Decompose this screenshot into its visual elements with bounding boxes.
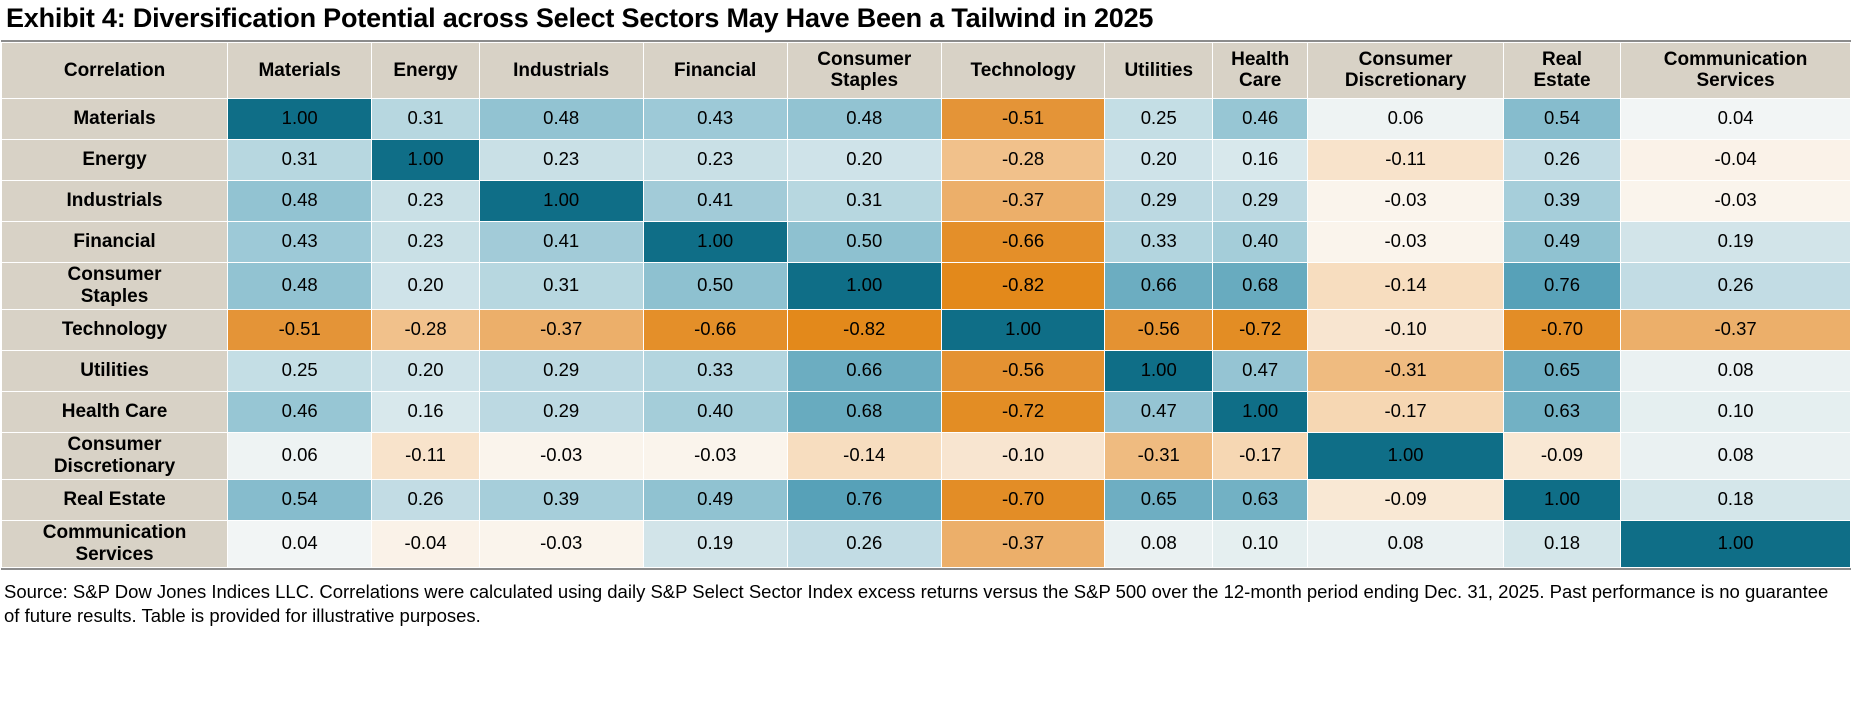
matrix-cell-r4-c3: 0.41 <box>479 221 643 262</box>
matrix-cell-r11-c7: 0.08 <box>1105 520 1213 567</box>
matrix-cell-r6-c2: -0.28 <box>372 309 480 350</box>
matrix-cell-r8-c7: 0.47 <box>1105 391 1213 432</box>
table-row: Health Care0.460.160.290.400.68-0.720.47… <box>2 391 1851 432</box>
matrix-cell-r1-c9: 0.06 <box>1308 98 1504 139</box>
row-header-8: Health Care <box>2 391 228 432</box>
header-line: Communication <box>1664 49 1808 70</box>
table-row: Materials1.000.310.480.430.48-0.510.250.… <box>2 98 1851 139</box>
row-header-1: Materials <box>2 98 228 139</box>
row-header-line: Real Estate <box>63 489 165 510</box>
row-header-2: Energy <box>2 139 228 180</box>
matrix-cell-r1-c11: 0.04 <box>1621 98 1851 139</box>
matrix-cell-r8-c10: 0.63 <box>1503 391 1620 432</box>
matrix-cell-r6-c1: -0.51 <box>228 309 372 350</box>
matrix-cell-r2-c3: 0.23 <box>479 139 643 180</box>
matrix-cell-r3-c2: 0.23 <box>372 180 480 221</box>
matrix-cell-r3-c4: 0.41 <box>643 180 787 221</box>
matrix-cell-r11-c11: 1.00 <box>1621 520 1851 567</box>
table-row: ConsumerDiscretionary0.06-0.11-0.03-0.03… <box>2 432 1851 479</box>
matrix-cell-r5-c8: 0.68 <box>1213 262 1308 309</box>
matrix-cell-r3-c1: 0.48 <box>228 180 372 221</box>
matrix-cell-r9-c4: -0.03 <box>643 432 787 479</box>
header-line: Materials <box>258 60 340 81</box>
matrix-cell-r11-c3: -0.03 <box>479 520 643 567</box>
table-row: CommunicationServices0.04-0.04-0.030.190… <box>2 520 1851 567</box>
column-header-11: CommunicationServices <box>1621 42 1851 98</box>
header-line: Utilities <box>1124 60 1193 81</box>
row-header-3: Industrials <box>2 180 228 221</box>
matrix-cell-r2-c7: 0.20 <box>1105 139 1213 180</box>
matrix-cell-r4-c7: 0.33 <box>1105 221 1213 262</box>
matrix-cell-r3-c10: 0.39 <box>1503 180 1620 221</box>
matrix-cell-r2-c6: -0.28 <box>941 139 1105 180</box>
matrix-cell-r7-c1: 0.25 <box>228 350 372 391</box>
row-header-line: Services <box>75 544 153 565</box>
row-header-4: Financial <box>2 221 228 262</box>
matrix-cell-r5-c7: 0.66 <box>1105 262 1213 309</box>
column-header-4: Financial <box>643 42 787 98</box>
matrix-cell-r1-c10: 0.54 <box>1503 98 1620 139</box>
row-header-5: ConsumerStaples <box>2 262 228 309</box>
matrix-cell-r10-c7: 0.65 <box>1105 479 1213 520</box>
matrix-cell-r4-c2: 0.23 <box>372 221 480 262</box>
matrix-cell-r1-c2: 0.31 <box>372 98 480 139</box>
header-line: Discretionary <box>1345 70 1466 91</box>
matrix-cell-r6-c9: -0.10 <box>1308 309 1504 350</box>
matrix-cell-r11-c10: 0.18 <box>1503 520 1620 567</box>
matrix-cell-r5-c11: 0.26 <box>1621 262 1851 309</box>
matrix-cell-r2-c11: -0.04 <box>1621 139 1851 180</box>
column-header-2: Energy <box>372 42 480 98</box>
matrix-cell-r10-c11: 0.18 <box>1621 479 1851 520</box>
matrix-cell-r5-c10: 0.76 <box>1503 262 1620 309</box>
matrix-cell-r9-c8: -0.17 <box>1213 432 1308 479</box>
matrix-cell-r11-c8: 0.10 <box>1213 520 1308 567</box>
matrix-cell-r10-c4: 0.49 <box>643 479 787 520</box>
matrix-cell-r4-c8: 0.40 <box>1213 221 1308 262</box>
table-row: Utilities0.250.200.290.330.66-0.561.000.… <box>2 350 1851 391</box>
column-header-8: HealthCare <box>1213 42 1308 98</box>
matrix-cell-r4-c5: 0.50 <box>787 221 941 262</box>
matrix-cell-r9-c9: 1.00 <box>1308 432 1504 479</box>
matrix-cell-r7-c11: 0.08 <box>1621 350 1851 391</box>
matrix-cell-r3-c3: 1.00 <box>479 180 643 221</box>
matrix-cell-r6-c4: -0.66 <box>643 309 787 350</box>
matrix-cell-r3-c9: -0.03 <box>1308 180 1504 221</box>
matrix-cell-r8-c8: 1.00 <box>1213 391 1308 432</box>
matrix-cell-r9-c3: -0.03 <box>479 432 643 479</box>
matrix-cell-r1-c6: -0.51 <box>941 98 1105 139</box>
matrix-cell-r11-c1: 0.04 <box>228 520 372 567</box>
matrix-cell-r8-c4: 0.40 <box>643 391 787 432</box>
matrix-cell-r6-c6: 1.00 <box>941 309 1105 350</box>
header-line: Care <box>1239 70 1281 91</box>
column-header-7: Utilities <box>1105 42 1213 98</box>
matrix-cell-r10-c3: 0.39 <box>479 479 643 520</box>
matrix-cell-r3-c5: 0.31 <box>787 180 941 221</box>
matrix-cell-r2-c5: 0.20 <box>787 139 941 180</box>
matrix-cell-r11-c4: 0.19 <box>643 520 787 567</box>
matrix-cell-r9-c10: -0.09 <box>1503 432 1620 479</box>
row-header-line: Health Care <box>62 401 168 422</box>
matrix-body: Materials1.000.310.480.430.48-0.510.250.… <box>2 98 1851 567</box>
row-header-line: Utilities <box>80 360 149 381</box>
row-header-11: CommunicationServices <box>2 520 228 567</box>
matrix-cell-r4-c1: 0.43 <box>228 221 372 262</box>
row-header-line: Industrials <box>67 190 163 211</box>
matrix-cell-r2-c10: 0.26 <box>1503 139 1620 180</box>
row-header-7: Utilities <box>2 350 228 391</box>
matrix-cell-r10-c1: 0.54 <box>228 479 372 520</box>
matrix-cell-r4-c4: 1.00 <box>643 221 787 262</box>
row-header-line: Materials <box>73 108 155 129</box>
header-line: Consumer <box>817 49 911 70</box>
column-header-1: Materials <box>228 42 372 98</box>
header-line: Energy <box>393 60 457 81</box>
matrix-cell-r10-c8: 0.63 <box>1213 479 1308 520</box>
table-row: Energy0.311.000.230.230.20-0.280.200.16-… <box>2 139 1851 180</box>
row-header-line: Technology <box>62 319 167 340</box>
matrix-cell-r10-c10: 1.00 <box>1503 479 1620 520</box>
column-header-10: RealEstate <box>1503 42 1620 98</box>
matrix-cell-r3-c8: 0.29 <box>1213 180 1308 221</box>
header-line: Financial <box>674 60 756 81</box>
row-header-9: ConsumerDiscretionary <box>2 432 228 479</box>
matrix-cell-r4-c11: 0.19 <box>1621 221 1851 262</box>
column-header-9: ConsumerDiscretionary <box>1308 42 1504 98</box>
matrix-cell-r2-c2: 1.00 <box>372 139 480 180</box>
matrix-header-row: Correlation MaterialsEnergyIndustrialsFi… <box>2 42 1851 98</box>
table-row: Real Estate0.540.260.390.490.76-0.700.65… <box>2 479 1851 520</box>
matrix-cell-r2-c9: -0.11 <box>1308 139 1504 180</box>
matrix-cell-r9-c2: -0.11 <box>372 432 480 479</box>
column-header-5: ConsumerStaples <box>787 42 941 98</box>
matrix-cell-r7-c10: 0.65 <box>1503 350 1620 391</box>
matrix-cell-r1-c1: 1.00 <box>228 98 372 139</box>
matrix-cell-r2-c4: 0.23 <box>643 139 787 180</box>
row-header-line: Discretionary <box>54 456 175 477</box>
matrix-cell-r11-c2: -0.04 <box>372 520 480 567</box>
header-line: Technology <box>971 60 1076 81</box>
matrix-cell-r8-c5: 0.68 <box>787 391 941 432</box>
matrix-cell-r10-c5: 0.76 <box>787 479 941 520</box>
matrix-cell-r7-c7: 1.00 <box>1105 350 1213 391</box>
matrix-cell-r5-c5: 1.00 <box>787 262 941 309</box>
row-header-line: Financial <box>73 231 155 252</box>
row-header-10: Real Estate <box>2 479 228 520</box>
matrix-cell-r8-c3: 0.29 <box>479 391 643 432</box>
header-line: Estate <box>1534 70 1591 91</box>
matrix-cell-r10-c9: -0.09 <box>1308 479 1504 520</box>
matrix-cell-r8-c1: 0.46 <box>228 391 372 432</box>
column-header-6: Technology <box>941 42 1105 98</box>
matrix-cell-r5-c6: -0.82 <box>941 262 1105 309</box>
row-header-6: Technology <box>2 309 228 350</box>
matrix-cell-r5-c3: 0.31 <box>479 262 643 309</box>
header-line: Staples <box>830 70 898 91</box>
matrix-cell-r6-c5: -0.82 <box>787 309 941 350</box>
matrix-cell-r4-c10: 0.49 <box>1503 221 1620 262</box>
matrix-cell-r3-c6: -0.37 <box>941 180 1105 221</box>
page-title: Exhibit 4: Diversification Potential acr… <box>0 0 1852 40</box>
matrix-cell-r7-c6: -0.56 <box>941 350 1105 391</box>
table-row: ConsumerStaples0.480.200.310.501.00-0.82… <box>2 262 1851 309</box>
matrix-cell-r9-c1: 0.06 <box>228 432 372 479</box>
matrix-cell-r7-c2: 0.20 <box>372 350 480 391</box>
matrix-cell-r5-c4: 0.50 <box>643 262 787 309</box>
header-line: Health <box>1231 49 1289 70</box>
matrix-cell-r6-c8: -0.72 <box>1213 309 1308 350</box>
row-header-line: Communication <box>43 522 187 543</box>
matrix-cell-r1-c8: 0.46 <box>1213 98 1308 139</box>
matrix-cell-r10-c6: -0.70 <box>941 479 1105 520</box>
matrix-cell-r5-c9: -0.14 <box>1308 262 1504 309</box>
row-header-line: Staples <box>81 286 149 307</box>
matrix-cell-r11-c5: 0.26 <box>787 520 941 567</box>
matrix-cell-r1-c3: 0.48 <box>479 98 643 139</box>
matrix-cell-r6-c11: -0.37 <box>1621 309 1851 350</box>
matrix-cell-r10-c2: 0.26 <box>372 479 480 520</box>
matrix-cell-r3-c7: 0.29 <box>1105 180 1213 221</box>
table-row: Technology-0.51-0.28-0.37-0.66-0.821.00-… <box>2 309 1851 350</box>
matrix-cell-r5-c2: 0.20 <box>372 262 480 309</box>
exhibit-page: Exhibit 4: Diversification Potential acr… <box>0 0 1852 727</box>
matrix-cell-r1-c5: 0.48 <box>787 98 941 139</box>
matrix-cell-r1-c7: 0.25 <box>1105 98 1213 139</box>
row-header-line: Energy <box>82 149 146 170</box>
header-line: Services <box>1696 70 1774 91</box>
row-header-line: Consumer <box>68 434 162 455</box>
matrix-cell-r7-c8: 0.47 <box>1213 350 1308 391</box>
matrix-cell-r7-c9: -0.31 <box>1308 350 1504 391</box>
table-row: Industrials0.480.231.000.410.31-0.370.29… <box>2 180 1851 221</box>
table-row: Financial0.430.230.411.000.50-0.660.330.… <box>2 221 1851 262</box>
matrix-cell-r8-c11: 0.10 <box>1621 391 1851 432</box>
matrix-cell-r6-c10: -0.70 <box>1503 309 1620 350</box>
matrix-cell-r9-c6: -0.10 <box>941 432 1105 479</box>
matrix-cell-r11-c6: -0.37 <box>941 520 1105 567</box>
matrix-cell-r7-c5: 0.66 <box>787 350 941 391</box>
column-header-3: Industrials <box>479 42 643 98</box>
matrix-cell-r7-c3: 0.29 <box>479 350 643 391</box>
correlation-matrix-table: Correlation MaterialsEnergyIndustrialsFi… <box>1 42 1851 568</box>
matrix-cell-r4-c6: -0.66 <box>941 221 1105 262</box>
matrix-cell-r8-c2: 0.16 <box>372 391 480 432</box>
matrix-cell-r9-c11: 0.08 <box>1621 432 1851 479</box>
header-line: Industrials <box>513 60 609 81</box>
source-note: Source: S&P Dow Jones Indices LLC. Corre… <box>0 570 1840 629</box>
header-line: Real <box>1542 49 1582 70</box>
matrix-cell-r8-c9: -0.17 <box>1308 391 1504 432</box>
matrix-cell-r6-c3: -0.37 <box>479 309 643 350</box>
row-header-line: Consumer <box>68 264 162 285</box>
matrix-cell-r7-c4: 0.33 <box>643 350 787 391</box>
matrix-cell-r6-c7: -0.56 <box>1105 309 1213 350</box>
matrix-cell-r3-c11: -0.03 <box>1621 180 1851 221</box>
matrix-cell-r1-c4: 0.43 <box>643 98 787 139</box>
matrix-cell-r8-c6: -0.72 <box>941 391 1105 432</box>
matrix-cell-r9-c7: -0.31 <box>1105 432 1213 479</box>
matrix-cell-r4-c9: -0.03 <box>1308 221 1504 262</box>
matrix-cell-r2-c8: 0.16 <box>1213 139 1308 180</box>
corner-header-correlation: Correlation <box>2 42 228 98</box>
matrix-cell-r5-c1: 0.48 <box>228 262 372 309</box>
matrix-cell-r9-c5: -0.14 <box>787 432 941 479</box>
matrix-cell-r2-c1: 0.31 <box>228 139 372 180</box>
matrix-cell-r11-c9: 0.08 <box>1308 520 1504 567</box>
header-line: Consumer <box>1359 49 1453 70</box>
